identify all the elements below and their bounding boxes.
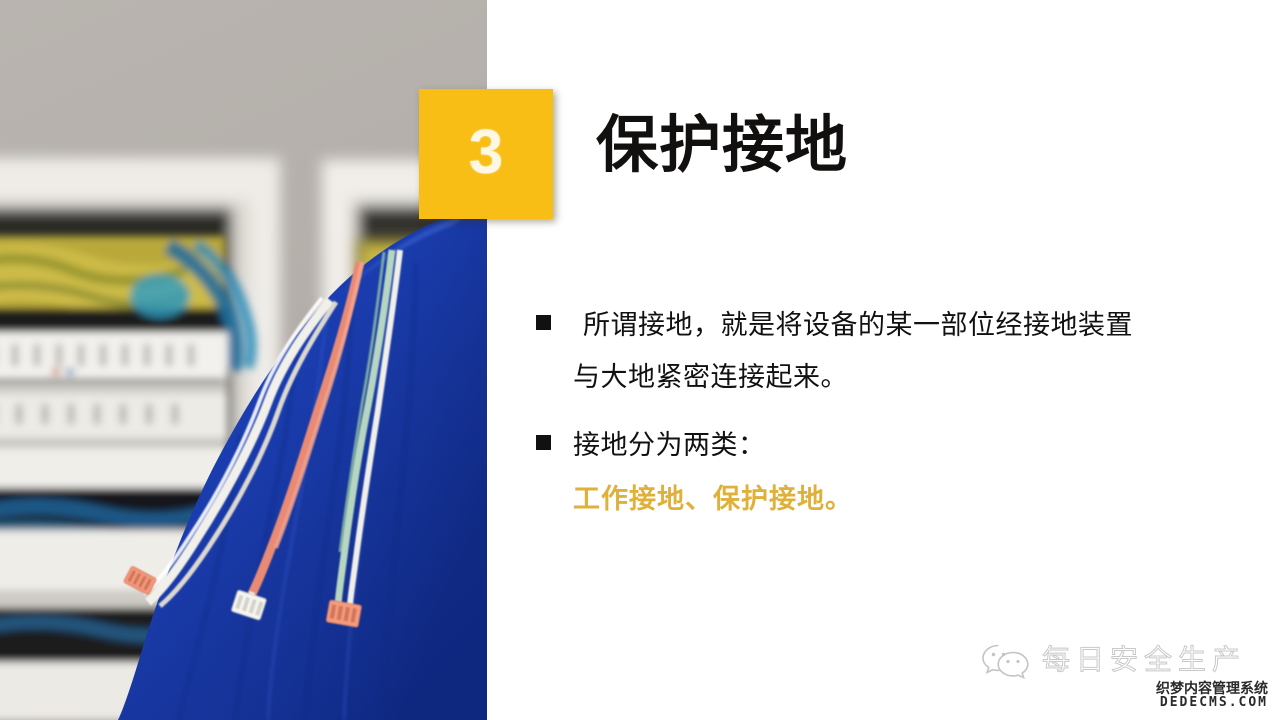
photo-illustration [0,0,487,720]
watermark-cms-cn: 织梦内容管理系统 [1156,682,1268,696]
section-number: 3 [469,122,503,184]
bullet-body: 所谓接地，就是将设备的某一部位经接地装置 与大地紧密连接起来。 [573,300,1236,404]
list-item: 所谓接地，就是将设备的某一部位经接地装置 与大地紧密连接起来。 [536,300,1236,404]
bullet-line: 与大地紧密连接起来。 [573,362,848,393]
section-number-badge: 3 [419,89,553,219]
watermark-cms: 织梦内容管理系统 DEDECMS.COM [1156,682,1268,710]
watermark: 每日安全生产 织梦内容管理系统 DEDECMS.COM [980,640,1270,712]
bullet-line: 接地分为两类： [573,430,766,461]
bullet-line: 所谓接地，就是将设备的某一部位经接地装置 [573,310,1133,341]
highlighted-terms: 工作接地、保护接地。 [573,474,1236,526]
wechat-icon [980,640,1032,680]
page-title: 保护接地 [596,108,848,182]
slide: 3 保护接地 所谓接地，就是将设备的某一部位经接地装置 与大地紧密连接起来。 接… [0,0,1280,720]
slide-photo [0,0,487,720]
bullet-square-icon [536,315,551,330]
bullet-square-icon [536,435,551,450]
bullet-list: 所谓接地，就是将设备的某一部位经接地装置 与大地紧密连接起来。 接地分为两类： … [536,300,1236,526]
watermark-account-row: 每日安全生产 [980,640,1270,680]
bullet-body: 接地分为两类： 工作接地、保护接地。 [573,420,1236,526]
watermark-cms-en: DEDECMS.COM [1156,696,1268,709]
list-item: 接地分为两类： 工作接地、保护接地。 [536,420,1236,526]
watermark-account-name: 每日安全生产 [1042,644,1246,676]
